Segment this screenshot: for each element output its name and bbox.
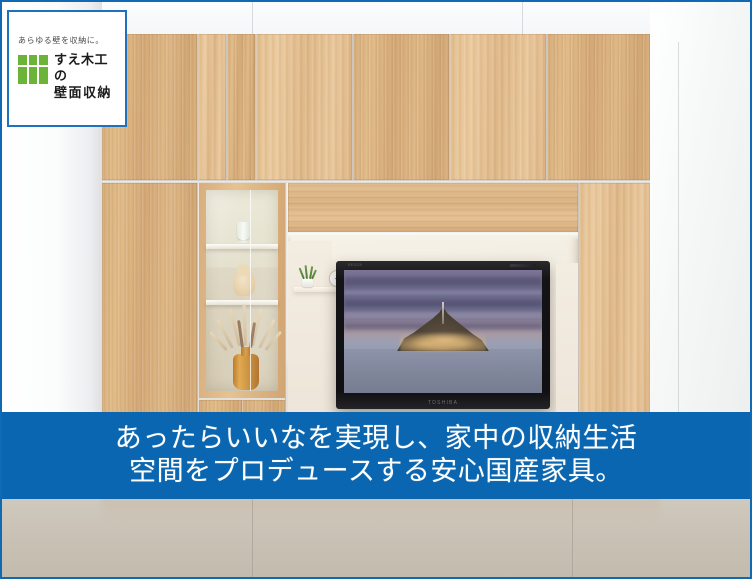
upper-door — [198, 34, 226, 180]
brand-logo-card[interactable]: あらゆる壁を収納に。 すえ木工の 壁面収納 — [7, 10, 127, 127]
upper-door — [353, 34, 449, 180]
tv-model-label: REGZA — [348, 263, 362, 267]
amber-vase-object — [233, 354, 259, 390]
lower-door — [579, 183, 650, 428]
niche-light — [288, 233, 578, 241]
upper-door — [547, 34, 650, 180]
logo-name-line1: すえ木工の — [54, 53, 116, 86]
tv-brand-label: TOSHIBA — [428, 400, 458, 406]
door-gap — [352, 34, 354, 180]
door-gap — [255, 34, 257, 180]
door-gap — [546, 34, 548, 180]
caption-banner: あったらいいなを実現し、家中の収納生活 空間をプロデュースする安心国産家具。 — [2, 412, 750, 499]
door-gap — [226, 34, 228, 180]
television: REGZA TOSHIBA — [336, 261, 550, 409]
plant-pot-object — [302, 278, 313, 287]
upper-door — [227, 34, 255, 180]
glass-reflection — [250, 190, 251, 391]
caption-line-2: 空間をプロデュースする安心国産家具。 — [129, 457, 623, 488]
header-panel — [288, 183, 578, 232]
tv-sea — [344, 349, 542, 393]
tv-abbey-spire — [442, 302, 444, 324]
caption-line-1: あったらいいなを実現し、家中の収納生活 — [115, 424, 638, 455]
glass-cup-object — [237, 222, 250, 240]
tv-sensor-bar — [510, 264, 536, 267]
logo-company-name: すえ木工の 壁面収納 — [54, 53, 116, 103]
floor-seam — [572, 491, 573, 577]
display-shelf — [206, 244, 278, 249]
tv-screen — [344, 270, 542, 393]
main-visual: REGZA TOSHIBA — [0, 0, 752, 579]
door-gap — [449, 34, 451, 180]
upper-door — [256, 34, 352, 180]
bear-figurine-object — [233, 270, 255, 296]
door-gap — [197, 34, 199, 180]
floor-seam — [252, 491, 253, 577]
logo-name-line2: 壁面収納 — [54, 86, 116, 103]
display-cabinet — [199, 183, 285, 398]
upper-door — [450, 34, 546, 180]
logo-row: すえ木工の 壁面収納 — [18, 53, 116, 103]
storage-grid-icon — [18, 55, 48, 84]
tv-island-lights — [400, 329, 486, 351]
logo-tagline: あらゆる壁を収納に。 — [18, 35, 116, 46]
